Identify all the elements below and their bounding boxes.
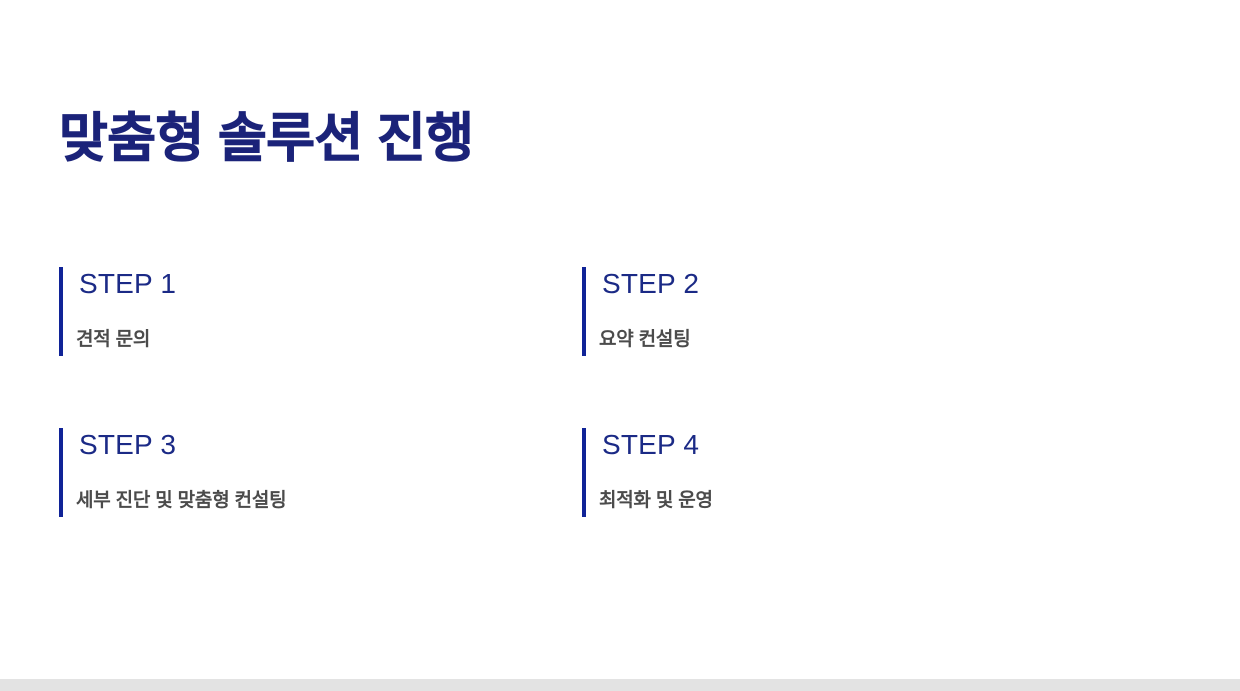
step-label-4: STEP 4 bbox=[602, 428, 1105, 462]
bottom-divider-strip bbox=[0, 679, 1240, 691]
accent-bar-icon bbox=[59, 267, 63, 356]
accent-bar-icon bbox=[59, 428, 63, 517]
step-card-1[interactable]: STEP 1 견적 문의 bbox=[59, 267, 582, 356]
step-description-1: 견적 문의 bbox=[76, 327, 150, 353]
step-label-1: STEP 1 bbox=[79, 267, 582, 301]
step-label-2: STEP 2 bbox=[602, 267, 1105, 301]
step-description-3: 세부 진단 및 맞춤형 컨설팅 bbox=[76, 488, 286, 514]
step-card-2[interactable]: STEP 2 요약 컨설팅 bbox=[582, 267, 1105, 356]
step-description-2: 요약 컨설팅 bbox=[599, 327, 690, 353]
page-title: 맞춤형 솔루션 진행 bbox=[59, 106, 474, 172]
step-card-3[interactable]: STEP 3 세부 진단 및 맞춤형 컨설팅 bbox=[59, 428, 582, 517]
step-description-4: 최적화 및 운영 bbox=[599, 488, 713, 514]
accent-bar-icon bbox=[582, 428, 586, 517]
step-grid: STEP 1 견적 문의 STEP 2 요약 컨설팅 STEP 3 세부 진단 … bbox=[59, 267, 1179, 589]
presentation-slide: 맞춤형 솔루션 진행 STEP 1 견적 문의 STEP 2 요약 컨설팅 ST… bbox=[0, 0, 1240, 691]
step-label-3: STEP 3 bbox=[79, 428, 582, 462]
accent-bar-icon bbox=[582, 267, 586, 356]
step-card-4[interactable]: STEP 4 최적화 및 운영 bbox=[582, 428, 1105, 517]
